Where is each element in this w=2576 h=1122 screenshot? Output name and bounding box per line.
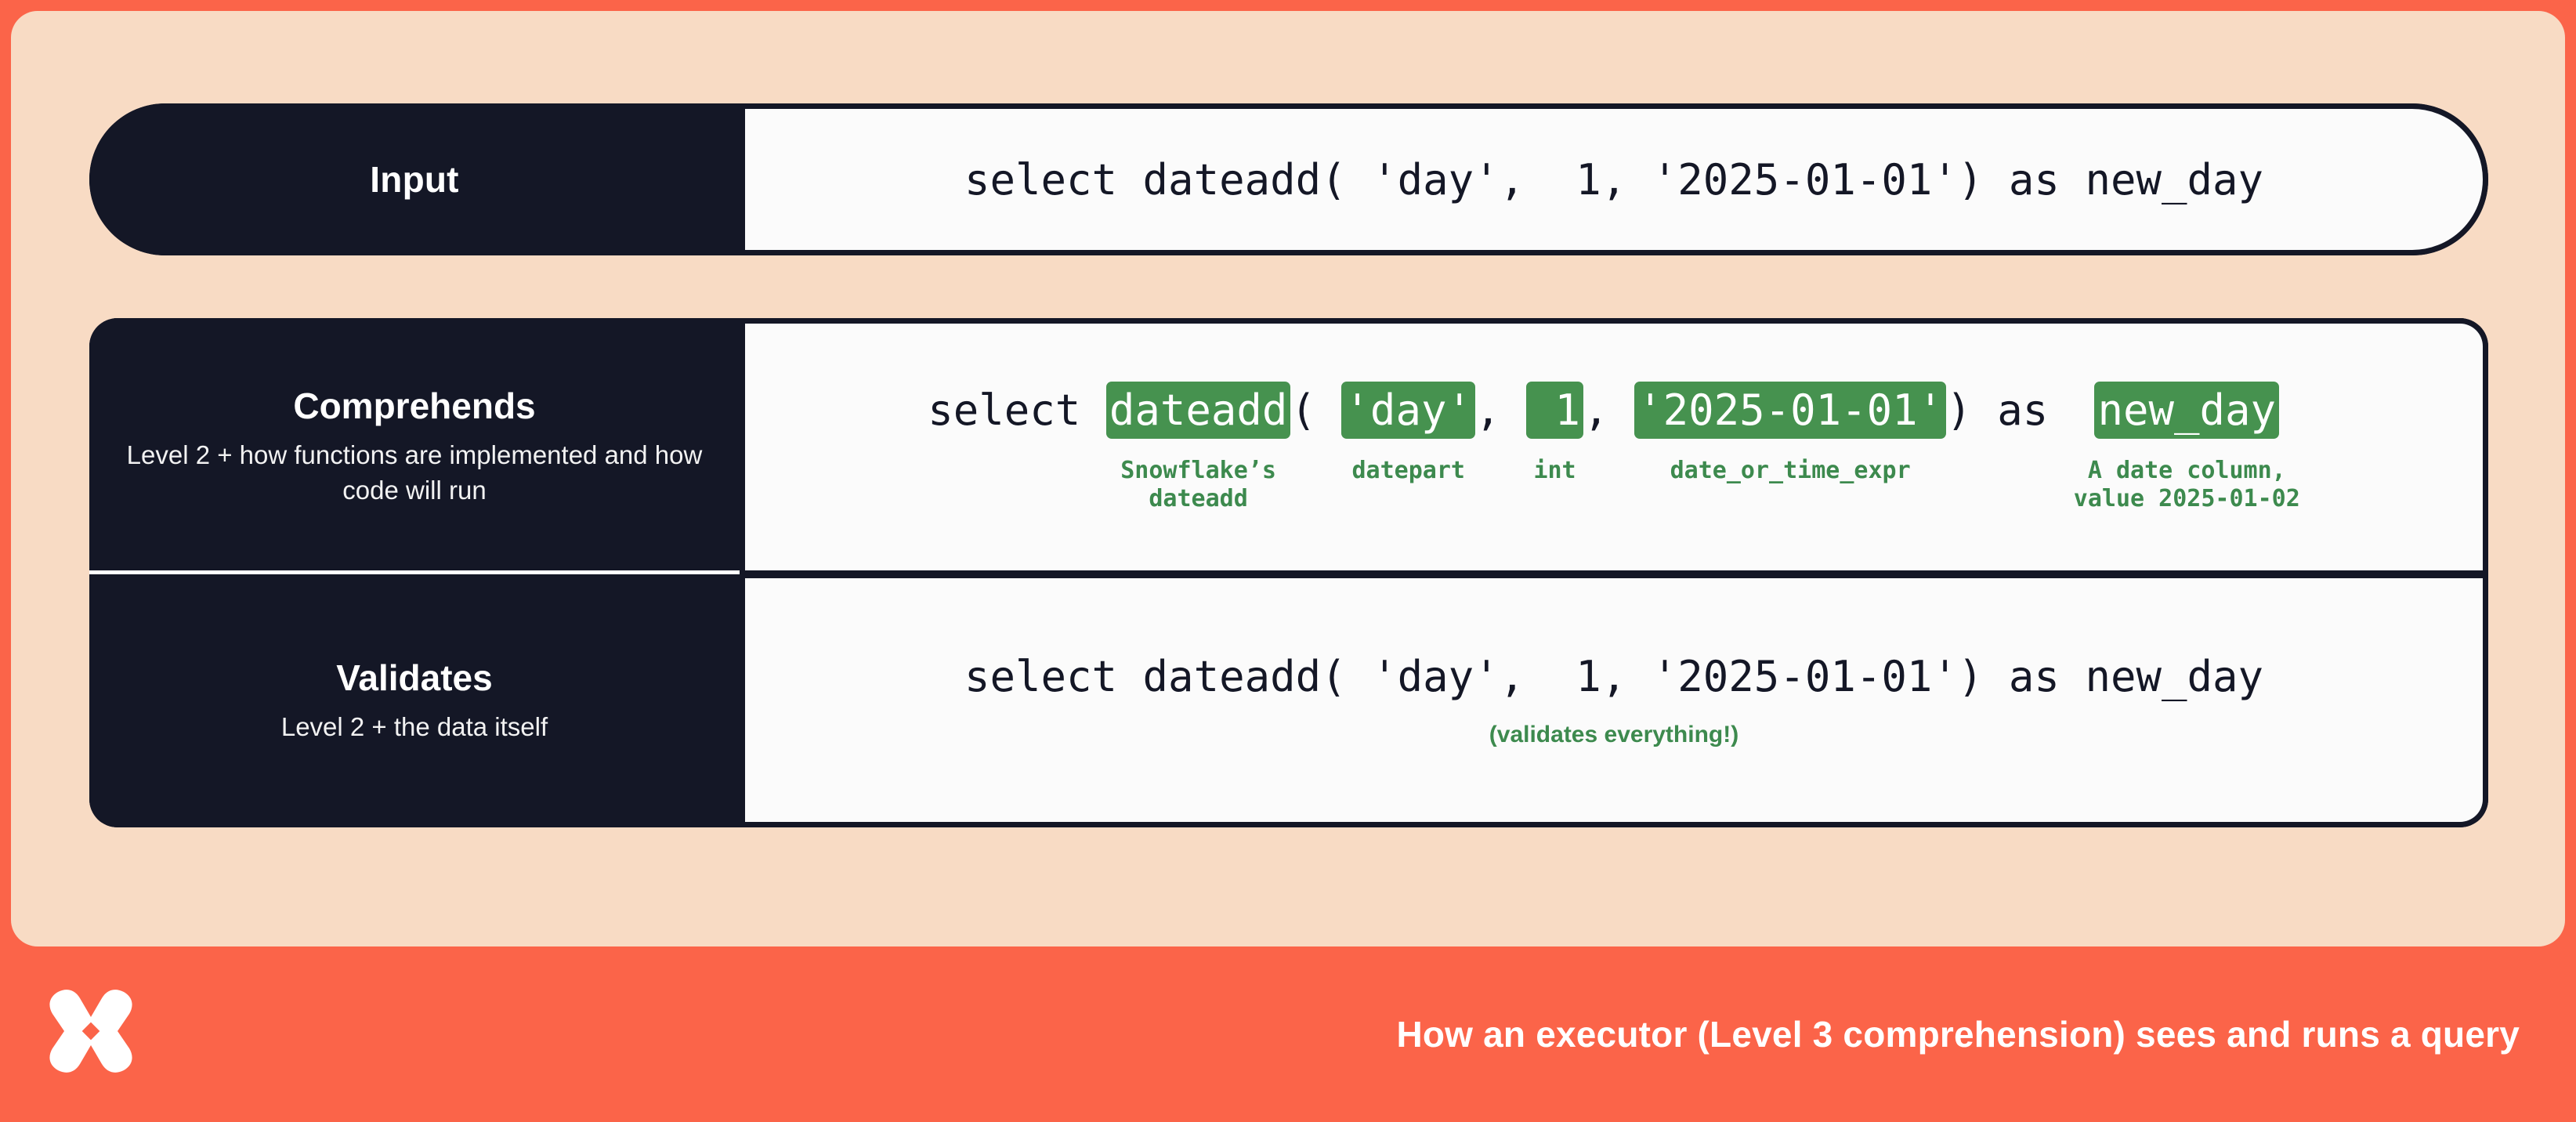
row-comprehends-annotated-code: select dateaddSnowflake’s dateadd( 'day'… bbox=[928, 385, 2300, 513]
code-token-annotation: Snowflake’s dateadd bbox=[1120, 457, 1276, 513]
row-validates-code-cell: select dateadd( 'day', 1, '2025-01-01') … bbox=[740, 574, 2488, 827]
code-token: , bbox=[1583, 385, 1634, 485]
content-canvas: Input select dateadd( 'day', 1, '2025-01… bbox=[11, 11, 2565, 946]
row-validates: Validates Level 2 + the data itself sele… bbox=[89, 574, 2488, 827]
row-comprehends: Comprehends Level 2 + how functions are … bbox=[89, 318, 2488, 574]
row-validates-subtitle: Level 2 + the data itself bbox=[281, 710, 548, 745]
row-input-title: Input bbox=[370, 158, 458, 201]
row-input-code-cell: select dateadd( 'day', 1, '2025-01-01') … bbox=[740, 103, 2488, 255]
code-token-text: new_day bbox=[2094, 382, 2279, 439]
footer-bar: How an executor (Level 3 comprehension) … bbox=[0, 946, 2576, 1122]
code-token-highlighted: 1int bbox=[1526, 385, 1583, 485]
code-token: ( bbox=[1290, 385, 1341, 485]
row-comprehends-label-cell: Comprehends Level 2 + how functions are … bbox=[89, 318, 740, 574]
code-token: , bbox=[1475, 385, 1526, 485]
row-validates-title: Validates bbox=[336, 657, 492, 699]
code-token-annotation: A date column, value 2025-01-02 bbox=[2074, 457, 2300, 513]
code-token-highlighted: dateaddSnowflake’s dateadd bbox=[1106, 385, 1291, 513]
levels-table: Comprehends Level 2 + how functions are … bbox=[89, 318, 2488, 827]
star-x-logo-icon bbox=[44, 984, 138, 1078]
code-token-text: ) as bbox=[1946, 385, 2074, 435]
code-token-highlighted: new_dayA date column, value 2025-01-02 bbox=[2074, 385, 2300, 513]
code-token-annotation: date_or_time_expr bbox=[1670, 457, 1911, 485]
row-validates-note: (validates everything!) bbox=[1489, 722, 1738, 748]
row-validates-code: select dateadd( 'day', 1, '2025-01-01') … bbox=[964, 652, 2263, 701]
code-token-text: select bbox=[928, 385, 1106, 435]
code-token-annotation: datepart bbox=[1351, 457, 1465, 485]
row-validates-label-cell: Validates Level 2 + the data itself bbox=[89, 574, 740, 827]
row-input: Input select dateadd( 'day', 1, '2025-01… bbox=[89, 103, 2488, 255]
code-token-annotation: int bbox=[1533, 457, 1576, 485]
code-token-text: 1 bbox=[1526, 382, 1583, 439]
code-token: select bbox=[928, 385, 1106, 485]
row-comprehends-subtitle: Level 2 + how functions are implemented … bbox=[108, 438, 721, 508]
code-token-highlighted: '2025-01-01'date_or_time_expr bbox=[1634, 385, 1946, 485]
code-token-text: 'day' bbox=[1341, 382, 1475, 439]
row-input-code: select dateadd( 'day', 1, '2025-01-01') … bbox=[964, 155, 2263, 204]
slide-root: Input select dateadd( 'day', 1, '2025-01… bbox=[0, 0, 2576, 1122]
code-token-text: ( bbox=[1290, 385, 1341, 435]
code-token-highlighted: 'day'datepart bbox=[1341, 385, 1475, 485]
code-token-text: , bbox=[1475, 385, 1526, 435]
footer-caption: How an executor (Level 3 comprehension) … bbox=[1396, 1013, 2520, 1055]
code-token: ) as bbox=[1946, 385, 2074, 485]
row-comprehends-code-cell: select dateaddSnowflake’s dateadd( 'day'… bbox=[740, 318, 2488, 574]
row-comprehends-title: Comprehends bbox=[293, 385, 535, 427]
code-token-text: , bbox=[1583, 385, 1634, 435]
code-token-text: '2025-01-01' bbox=[1634, 382, 1946, 439]
row-input-label-cell: Input bbox=[89, 103, 740, 255]
code-token-text: dateadd bbox=[1106, 382, 1291, 439]
